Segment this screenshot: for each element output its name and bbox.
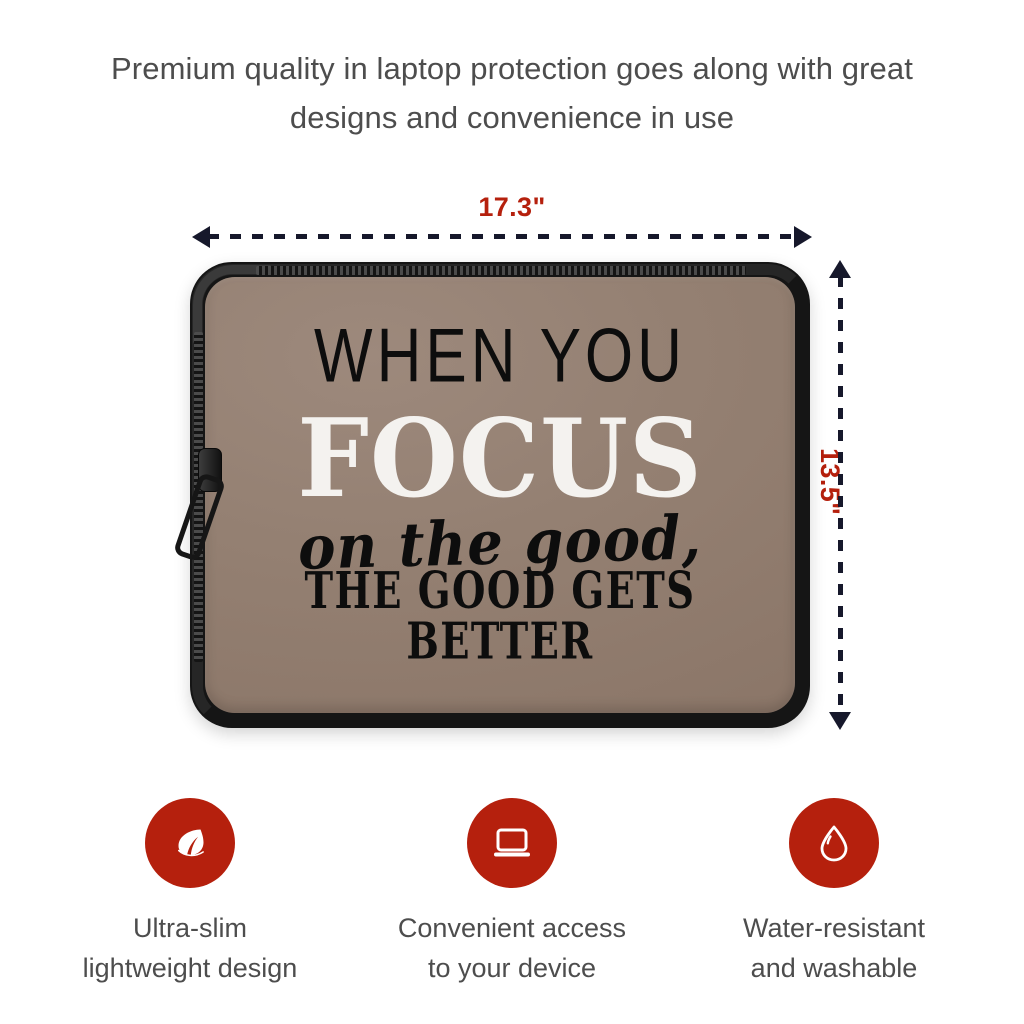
feature-badge	[467, 798, 557, 888]
feature-list: Ultra-slim lightweight design Convenient…	[0, 798, 1024, 988]
width-dimension-label: 17.3"	[0, 192, 1024, 223]
page-headline: Premium quality in laptop protection goe…	[0, 44, 1024, 142]
feather-icon	[166, 819, 214, 867]
water-drop-icon	[810, 819, 858, 867]
headline-line-2: designs and convenience in use	[0, 93, 1024, 142]
feature-caption: Water-resistant and washable	[743, 908, 925, 988]
feature-item-ultra-slim: Ultra-slim lightweight design	[29, 798, 351, 988]
dimension-arrow-down-icon	[829, 712, 851, 730]
feature-item-convenient-access: Convenient access to your device	[351, 798, 673, 988]
feature-caption: Ultra-slim lightweight design	[83, 908, 298, 988]
laptop-icon	[487, 818, 537, 868]
width-dimension-line	[208, 234, 796, 239]
sleeve-face: WHEN YOU FOCUS on the good, THE GOOD GET…	[205, 277, 795, 713]
dimension-arrow-right-icon	[794, 226, 812, 248]
sleeve-artwork: WHEN YOU FOCUS on the good, THE GOOD GET…	[205, 277, 795, 713]
artwork-line-2: FOCUS	[297, 405, 703, 513]
laptop-sleeve-product: WHEN YOU FOCUS on the good, THE GOOD GET…	[190, 262, 810, 728]
feature-item-water-resistant: Water-resistant and washable	[673, 798, 995, 988]
zipper-corner	[193, 265, 271, 343]
feature-caption: Convenient access to your device	[398, 908, 626, 988]
feature-badge	[145, 798, 235, 888]
infographic-canvas: Premium quality in laptop protection goe…	[0, 0, 1024, 1024]
headline-line-1: Premium quality in laptop protection goe…	[0, 44, 1024, 93]
artwork-line-1: WHEN YOU	[314, 319, 686, 395]
feature-badge	[789, 798, 879, 888]
height-dimension-line	[838, 276, 843, 716]
zipper-teeth-top	[256, 266, 746, 275]
artwork-line-4: THE GOOD GETS BETTER	[217, 567, 783, 668]
